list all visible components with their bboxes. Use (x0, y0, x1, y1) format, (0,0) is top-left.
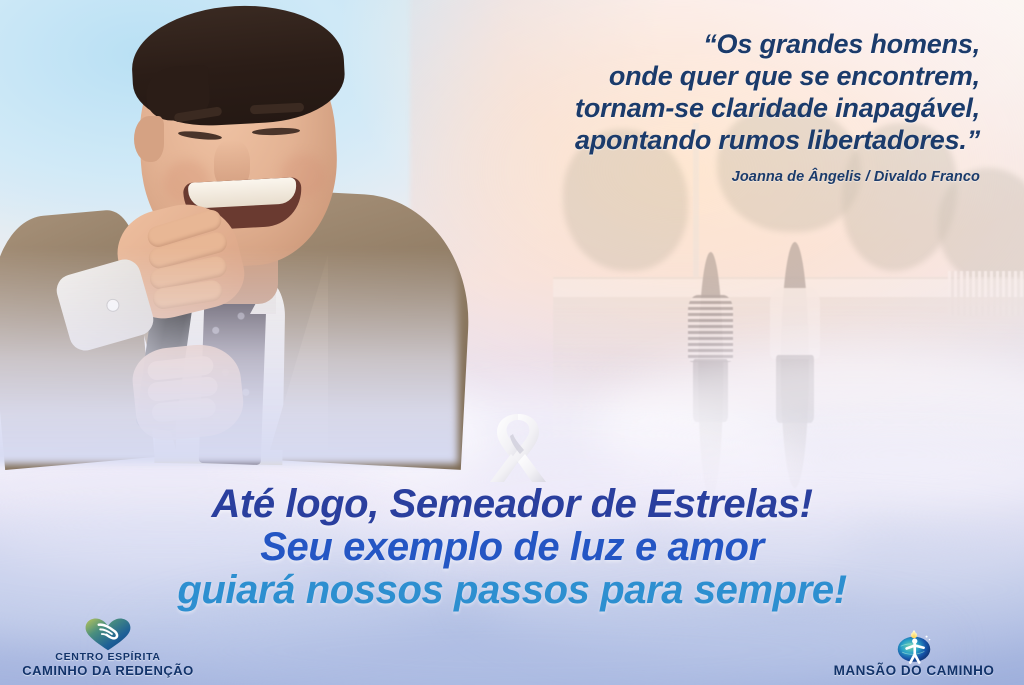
quote-line-1: “Os grandes homens, (360, 28, 980, 60)
person-striped-shirt (688, 252, 734, 419)
globe-figure-flame-icon (814, 630, 1014, 664)
quote-block: “Os grandes homens, onde quer que se enc… (360, 28, 980, 185)
palm-tree-icon (938, 168, 1024, 284)
portrait-cloud-fade (0, 248, 458, 464)
person-torso (688, 295, 734, 362)
white-ribbon-icon (482, 408, 554, 488)
headline-line-3: guiará nossos passos para sempre! (0, 570, 1024, 610)
logo-mansao-do-caminho: MANSÃO DO CAMINHO (814, 630, 1014, 677)
quote-line-3: tornam-se claridade inapagável, (360, 92, 980, 124)
person-legs (693, 359, 728, 423)
logo-left-line-2: CAMINHO DA REDENÇÃO (8, 664, 208, 677)
quote-author: Joanna de Ângelis / Divaldo Franco (360, 169, 980, 185)
ear (134, 116, 164, 162)
heart-hands-icon (8, 617, 208, 651)
memorial-poster: “Os grandes homens, onde quer que se enc… (0, 0, 1024, 685)
hair (129, 1, 347, 130)
headline-block: Até logo, Semeador de Estrelas! Seu exem… (0, 484, 1024, 610)
person-white-shirt (770, 242, 821, 419)
logo-right-text: MANSÃO DO CAMINHO (814, 664, 1014, 677)
person-legs (776, 355, 814, 422)
quote-line-2: onde quer que se encontrem, (360, 60, 980, 92)
person-torso (770, 288, 821, 359)
quote-line-4: apontando rumos libertadores.” (360, 124, 980, 156)
logo-centro-espirita: CENTRO ESPÍRITA CAMINHO DA REDENÇÃO (8, 617, 208, 677)
teeth (188, 177, 298, 209)
logo-left-text: CENTRO ESPÍRITA CAMINHO DA REDENÇÃO (8, 651, 208, 677)
headline-line-2: Seu exemplo de luz e amor (0, 527, 1024, 567)
headline-line-1: Até logo, Semeador de Estrelas! (0, 484, 1024, 524)
logo-right-line-2: MANSÃO DO CAMINHO (814, 664, 1014, 677)
